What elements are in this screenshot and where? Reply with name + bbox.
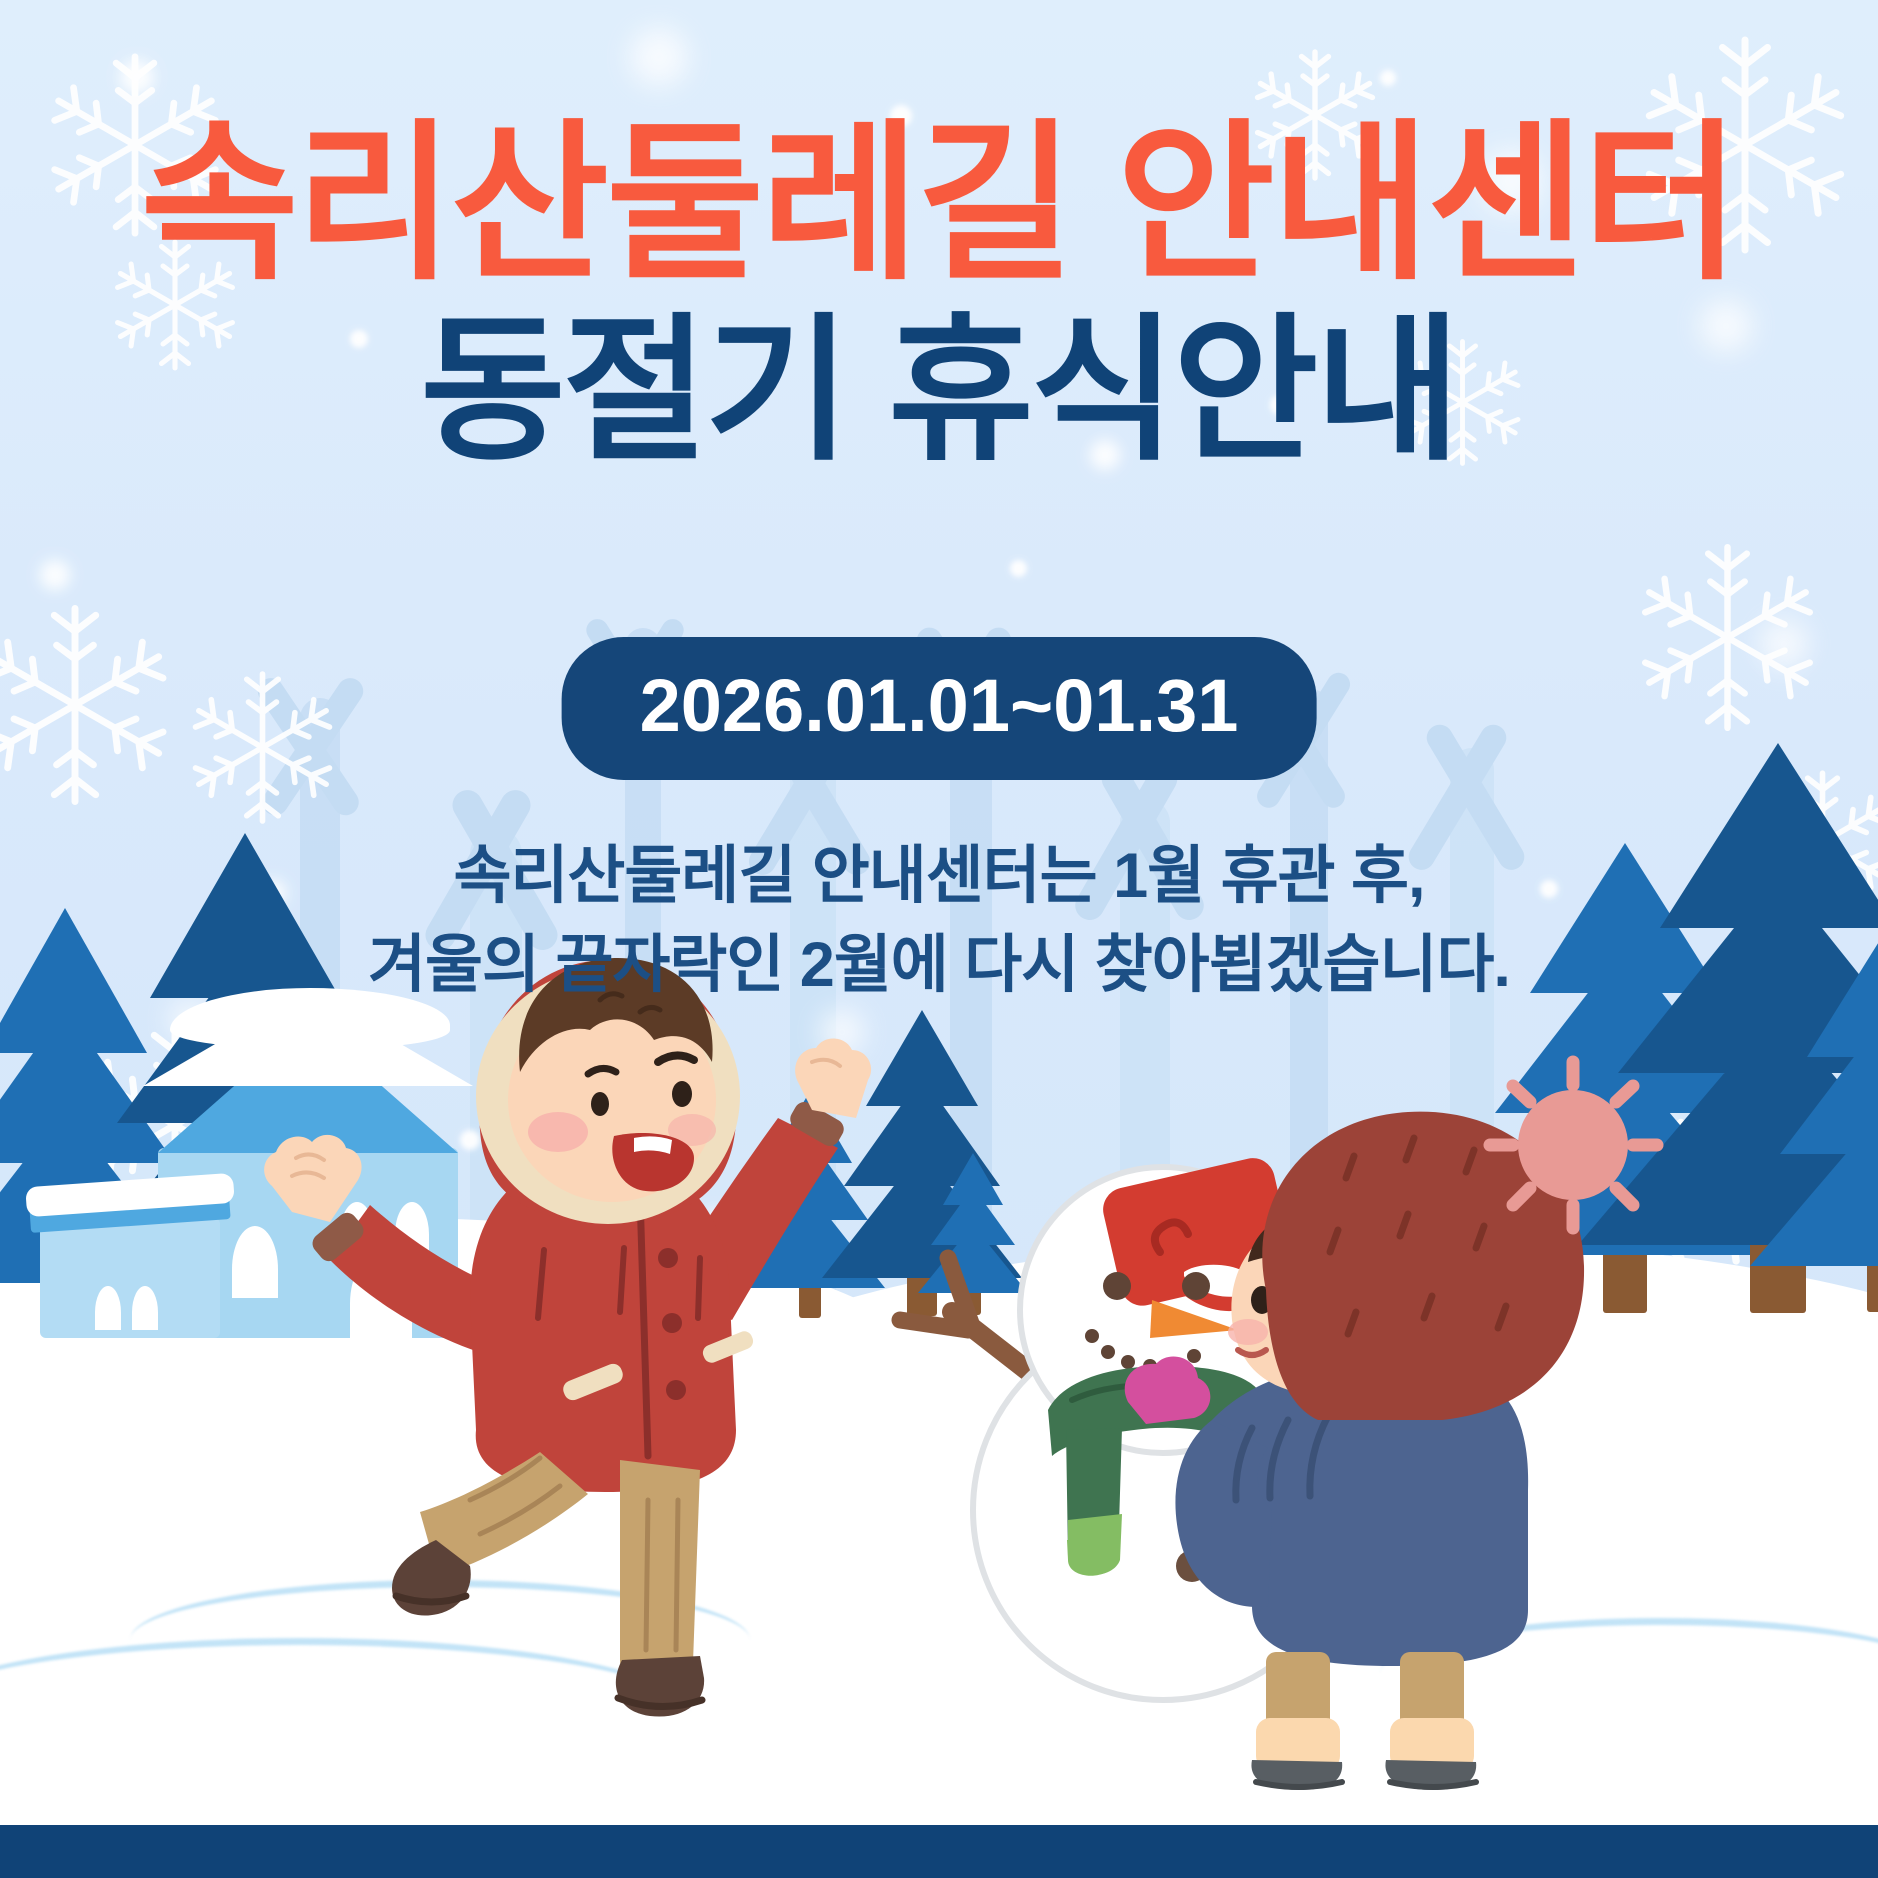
body-line-2: 겨울의 끝자락인 2월에 다시 찾아뵙겠습니다.	[0, 921, 1878, 1010]
snowflake-icon	[175, 660, 350, 835]
poster-body-text: 속리산둘레길 안내센터는 1월 휴관 후, 겨울의 끝자락인 2월에 다시 찾아…	[0, 832, 1878, 1011]
poster-headline: 속리산둘레길 안내센터 동절기 휴식안내	[0, 118, 1878, 470]
snow-covered-house	[40, 1008, 460, 1338]
bottom-navy-bar	[0, 1825, 1878, 1878]
headline-line-2: 동절기 휴식안내	[0, 312, 1878, 470]
snowflake-icon	[1620, 530, 1835, 745]
body-line-1: 속리산둘레길 안내센터는 1월 휴관 후,	[0, 832, 1878, 921]
snowflake-icon	[0, 590, 190, 820]
winter-notice-poster: 속리산둘레길 안내센터 동절기 휴식안내 2026.01.01~01.31 속리…	[0, 0, 1878, 1878]
date-range-badge: 2026.01.01~01.31	[562, 637, 1317, 780]
pine-tree	[918, 1155, 1028, 1315]
headline-line-1: 속리산둘레길 안내센터	[0, 118, 1878, 290]
